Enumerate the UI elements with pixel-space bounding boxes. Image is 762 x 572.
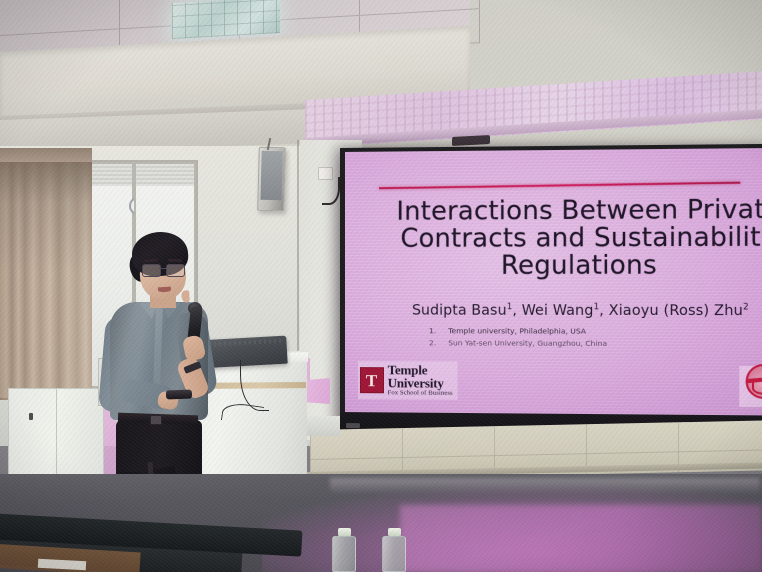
fluorescent-light-panel <box>172 0 280 39</box>
water-bottle <box>382 528 406 572</box>
temple-t-mark: T <box>366 372 377 389</box>
water-bottle <box>332 528 356 572</box>
affiliation-1-number: 1. <box>429 325 435 337</box>
title-slide: Interactions Between Privat Contracts an… <box>345 148 762 416</box>
author-3-name: Xiaoyu (Ross) Zhu <box>609 302 743 319</box>
slide-surface: Interactions Between Privat Contracts an… <box>345 148 762 416</box>
author-1-name: Sudipta Basu <box>412 302 507 318</box>
slide-title-line-2: Contracts and Sustainabilit <box>353 224 762 253</box>
bottle-cap <box>388 528 401 536</box>
presentation-clicker <box>166 390 192 400</box>
slide-title: Interactions Between Privat Contracts an… <box>353 196 762 281</box>
glasses-icon <box>142 264 186 275</box>
wall-speaker-icon <box>257 147 286 212</box>
affiliation-2-text: Sun Yat-sen University, Guangzhou, China <box>448 337 607 350</box>
author-3-marker: 2 <box>743 302 749 312</box>
affiliation-row: 2. Sun Yat-sen University, Guangzhou, Ch… <box>429 337 731 350</box>
cabinet-lock-icon <box>29 413 33 420</box>
bottle-cap <box>338 528 351 536</box>
window-blind <box>136 164 194 186</box>
affiliation-2-number: 2. <box>429 337 435 349</box>
temple-wordmark: Temple University Fox School of Business <box>388 364 453 398</box>
ear <box>181 290 190 303</box>
belt-buckle <box>150 415 162 425</box>
temple-logo-line-2: University <box>388 377 453 390</box>
curtain-shading <box>0 148 92 398</box>
slide-divider-rule <box>379 181 740 189</box>
author-separator-1: , <box>512 302 521 318</box>
conference-photo-scene: Interactions Between Privat Contracts an… <box>0 0 762 572</box>
curtain-rail <box>0 148 92 162</box>
affiliation-1-text: Temple university, Philadelphia, USA <box>448 325 586 337</box>
author-2-name: Wei Wang <box>522 302 594 318</box>
slide-title-line-3: Regulations <box>353 252 762 280</box>
author-separator-2: , <box>599 302 608 318</box>
screen-brand-badge <box>346 423 360 428</box>
temple-university-logo: T Temple University Fox School of Busine… <box>358 361 458 399</box>
affiliation-row: 1. Temple university, Philadelphia, USA <box>429 325 731 338</box>
temple-logo-line-3: Fox School of Business <box>388 391 453 398</box>
slide-affiliations: 1. Temple university, Philadelphia, USA … <box>429 325 731 350</box>
projection-screen: Interactions Between Privat Contracts an… <box>340 144 762 438</box>
temple-shield-icon: T <box>360 367 384 393</box>
slide-authors: Sudipta Basu1, Wei Wang1, Xiaoyu (Ross) … <box>353 302 762 320</box>
